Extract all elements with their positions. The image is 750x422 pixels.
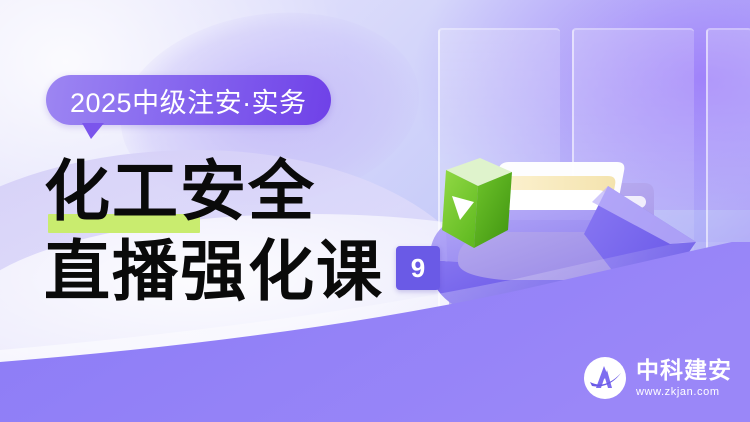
- logo-brand-name: 中科建安: [636, 359, 732, 382]
- badge-tail-pointer: [82, 123, 104, 139]
- page-title: 化工安全 直播强化课 9: [44, 152, 474, 312]
- course-promo-banner: 2025中级注安·实务 化工安全 直播强化课 9 中科建安 www.zkjan.…: [0, 0, 750, 422]
- title-row-secondary: 直播强化课 9: [44, 230, 474, 312]
- logo-website-url: www.zkjan.com: [636, 387, 732, 398]
- course-category-badge[interactable]: 2025中级注安·实务: [46, 75, 331, 125]
- badge-label: 2025中级注安·实务: [70, 81, 307, 120]
- title-line-1: 化工安全: [44, 152, 474, 230]
- episode-number-badge: 9: [396, 246, 440, 290]
- title-row-primary: 化工安全: [44, 152, 474, 230]
- logo-emblem-icon: [583, 356, 627, 400]
- title-line-2: 直播强化课: [44, 232, 384, 310]
- episode-number: 9: [411, 253, 425, 284]
- brand-logo[interactable]: 中科建安 www.zkjan.com: [583, 356, 732, 400]
- logo-text-group: 中科建安 www.zkjan.com: [636, 359, 732, 398]
